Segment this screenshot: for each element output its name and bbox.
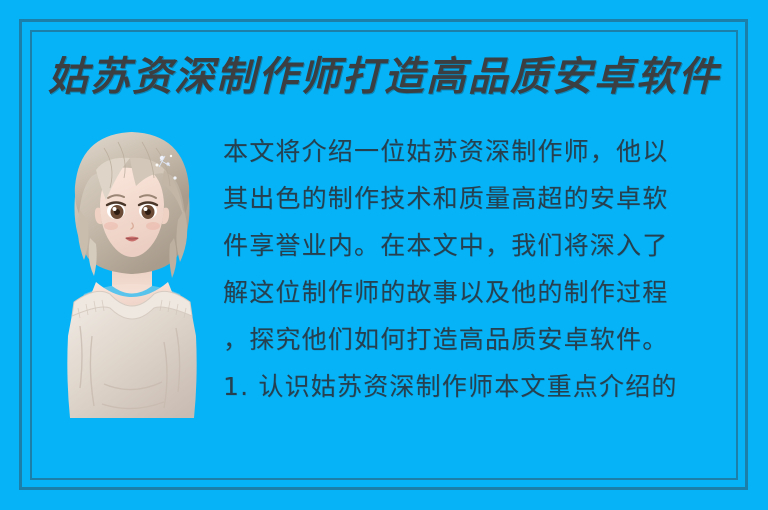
anime-girl-portrait: [44, 126, 220, 422]
body-line: 其出色的制作技术和质量高超的安卓软: [223, 175, 737, 222]
article-body: 本文将介绍一位姑苏资深制作师，他以 其出色的制作技术和质量高超的安卓软 件享誉业…: [223, 128, 737, 410]
body-line: ，探究他们如何打造高品质安卓软件。: [223, 316, 737, 363]
body-line: 解这位制作师的故事以及他的制作过程: [223, 269, 737, 316]
body-line: 本文将介绍一位姑苏资深制作师，他以: [223, 128, 737, 175]
body-line: 1. 认识姑苏资深制作师本文重点介绍的: [223, 363, 737, 410]
page-title: 姑苏资深制作师打造高品质安卓软件: [34, 52, 734, 102]
body-line: 件享誉业内。在本文中，我们将深入了: [223, 222, 737, 269]
poster-canvas: 姑苏资深制作师打造高品质安卓软件 本文将介绍一位姑苏资深制作师，他以 其出色的制…: [0, 0, 768, 510]
